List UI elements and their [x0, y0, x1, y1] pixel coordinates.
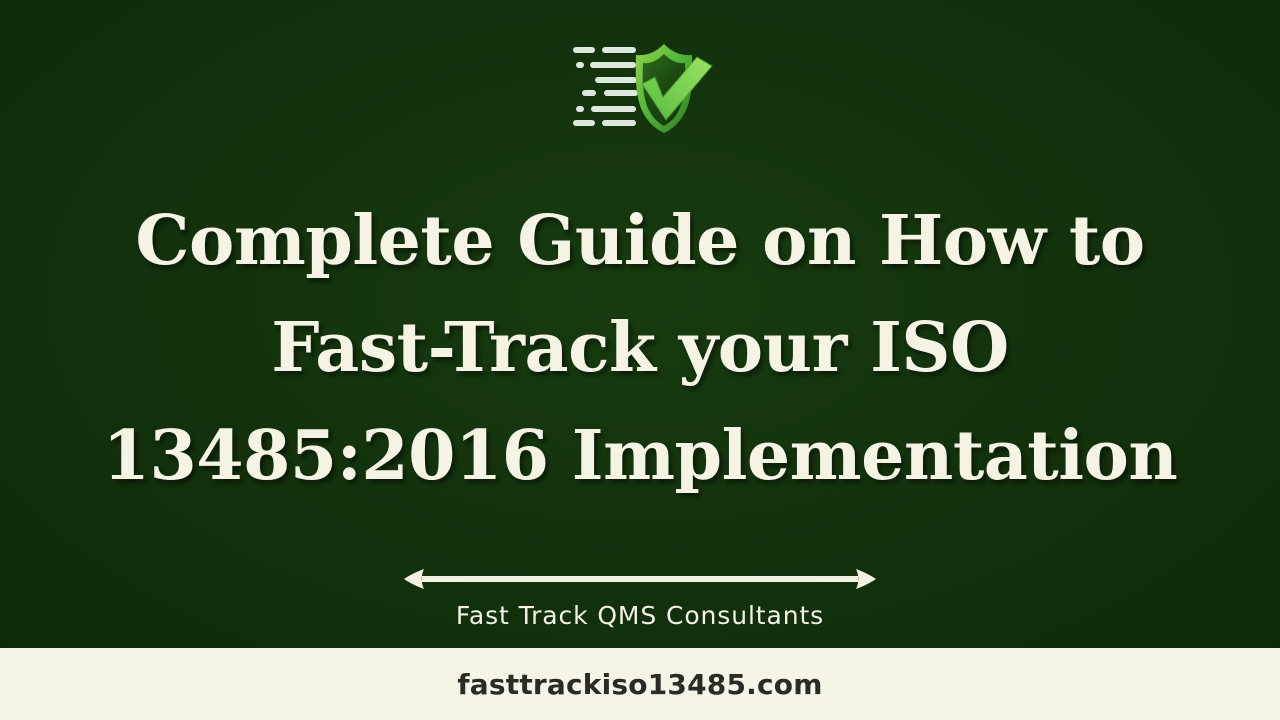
website-url[interactable]: fasttrackiso13485.com — [457, 668, 822, 701]
title-line-1: Complete Guide on How to — [80, 188, 1200, 295]
poster-slide: Complete Guide on How to Fast-Track your… — [0, 0, 1280, 720]
brand-logo — [560, 40, 720, 136]
hero-section: Complete Guide on How to Fast-Track your… — [0, 0, 1280, 648]
page-title: Complete Guide on How to Fast-Track your… — [80, 188, 1200, 510]
speed-lines-icon — [573, 47, 638, 126]
ornamental-divider — [394, 566, 886, 592]
title-line-2: Fast-Track your ISO — [80, 295, 1200, 402]
title-line-3: 13485:2016 Implementation — [80, 403, 1200, 510]
shield-check-icon — [560, 40, 720, 136]
footer-bar: fasttrackiso13485.com — [0, 648, 1280, 720]
subtitle: Fast Track QMS Consultants — [456, 601, 824, 630]
